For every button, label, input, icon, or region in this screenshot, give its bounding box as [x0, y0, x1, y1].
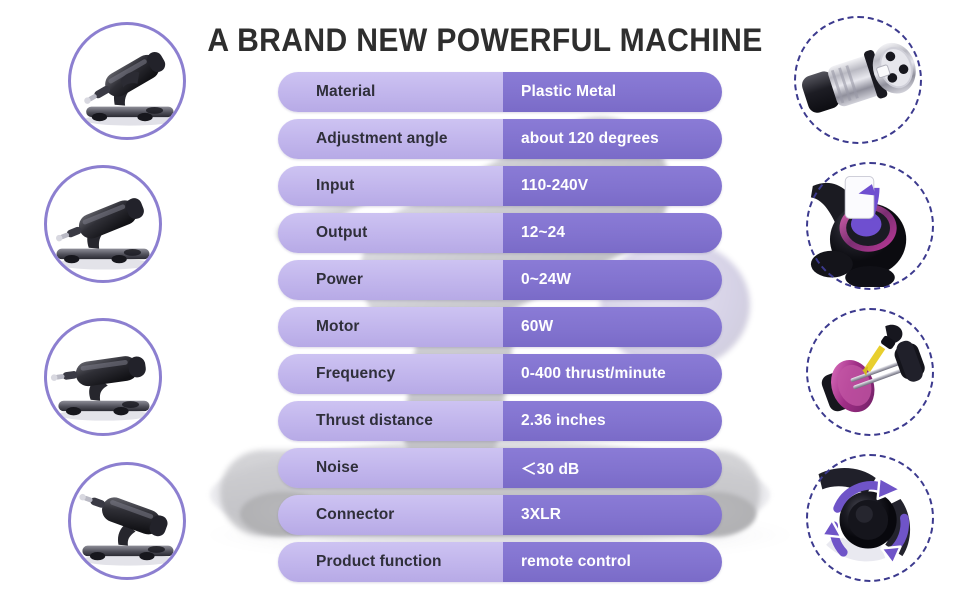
- spec-value: 0~24W: [503, 260, 722, 300]
- table-row: Noise ＜30 dB: [278, 448, 722, 488]
- spec-key: Material: [278, 72, 503, 112]
- spec-value: 60W: [503, 307, 722, 347]
- spec-key: Output: [278, 213, 503, 253]
- table-row: Output 12~24: [278, 213, 722, 253]
- table-row: Adjustment angle about 120 degrees: [278, 119, 722, 159]
- spec-value: remote control: [503, 542, 722, 582]
- left-thumb-3[interactable]: [44, 318, 162, 436]
- spec-key: Thrust distance: [278, 401, 503, 441]
- page-title: A BRAND NEW POWERFUL MACHINE: [29, 22, 941, 59]
- table-row: Motor 60W: [278, 307, 722, 347]
- table-row: Product function remote control: [278, 542, 722, 582]
- spec-key: Product function: [278, 542, 503, 582]
- spec-key: Connector: [278, 495, 503, 535]
- spec-value: 12~24: [503, 213, 722, 253]
- right-thumb-4-ring: [806, 454, 934, 582]
- table-row: Frequency 0-400 thrust/minute: [278, 354, 722, 394]
- spec-value: about 120 degrees: [503, 119, 722, 159]
- spec-value: Plastic Metal: [503, 72, 722, 112]
- right-thumb-4[interactable]: [806, 454, 934, 582]
- right-thumb-3-ring: [806, 308, 934, 436]
- spec-value: 3XLR: [503, 495, 722, 535]
- spec-key: Motor: [278, 307, 503, 347]
- spec-value: ＜30 dB: [503, 448, 722, 488]
- left-thumb-4-ring: [68, 462, 186, 580]
- left-thumb-2[interactable]: [44, 165, 162, 283]
- spec-key: Frequency: [278, 354, 503, 394]
- spec-key: Noise: [278, 448, 503, 488]
- table-row: Power 0~24W: [278, 260, 722, 300]
- spec-value: 110-240V: [503, 166, 722, 206]
- spec-value: 2.36 inches: [503, 401, 722, 441]
- infographic-page: A BRAND NEW POWERFUL MACHINE: [0, 0, 970, 600]
- left-thumb-2-ring: [44, 165, 162, 283]
- spec-key: Power: [278, 260, 503, 300]
- table-row: Input 110-240V: [278, 166, 722, 206]
- right-thumb-2[interactable]: [806, 162, 934, 290]
- left-thumb-4[interactable]: [68, 462, 186, 580]
- left-thumb-3-ring: [44, 318, 162, 436]
- table-row: Connector 3XLR: [278, 495, 722, 535]
- specification-table: Material Plastic Metal Adjustment angle …: [278, 72, 722, 589]
- right-thumb-3[interactable]: [806, 308, 934, 436]
- spec-value: 0-400 thrust/minute: [503, 354, 722, 394]
- table-row: Thrust distance 2.36 inches: [278, 401, 722, 441]
- spec-key: Input: [278, 166, 503, 206]
- right-thumb-2-ring: [806, 162, 934, 290]
- spec-key: Adjustment angle: [278, 119, 503, 159]
- table-row: Material Plastic Metal: [278, 72, 722, 112]
